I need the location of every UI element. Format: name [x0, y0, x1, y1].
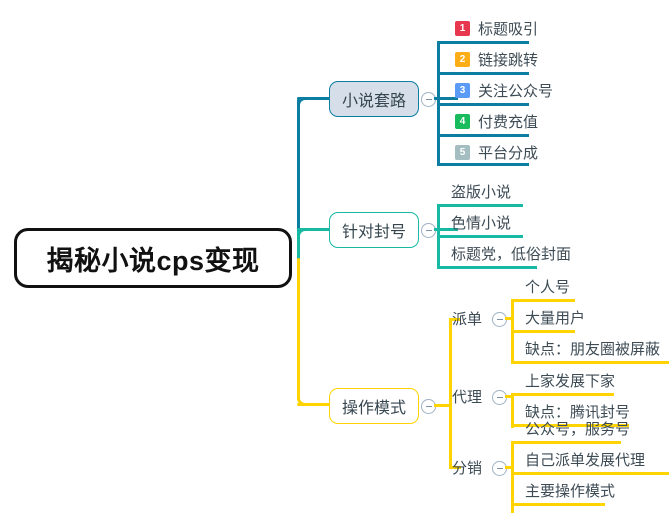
- leaf-guanzhugongzhonghao[interactable]: 3 关注公众号: [449, 75, 553, 106]
- minus-icon: [426, 406, 432, 408]
- leaf-label: 缺点：朋友圈被屏蔽: [517, 338, 660, 359]
- leaf-label: 付费充值: [470, 111, 538, 132]
- trunk-branch-1-corner: [297, 97, 311, 111]
- minus-icon: [426, 99, 432, 101]
- minus-icon: [426, 230, 432, 232]
- leaf-gerenhao[interactable]: 个人号: [517, 271, 570, 302]
- trunk-branch-2-corner: [297, 228, 311, 242]
- leaf-label: 关注公众号: [470, 80, 553, 101]
- subgroup-node-fenxiao[interactable]: 分销: [452, 452, 482, 482]
- leaf-shangjiafazhanxiajia[interactable]: 上家发展下家: [517, 365, 615, 396]
- leaf-gongzhonghao-fuwuhao[interactable]: 公众号，服务号: [517, 413, 630, 444]
- leaf-daobanxiaoshuo[interactable]: 盗版小说: [443, 176, 511, 207]
- mindmap-canvas: 揭秘小说cps变现 小说套路 1 标题吸引 2 链接跳转 3 关注公众号 4 付…: [0, 0, 671, 527]
- leaf-badge: 1: [455, 21, 470, 36]
- branch-node-label: 针对封号: [342, 218, 406, 242]
- leaf-label: 主要操作模式: [517, 480, 615, 501]
- branch-node-label: 操作模式: [342, 394, 406, 418]
- leaf-label: 链接跳转: [470, 49, 538, 70]
- branch-node-xiaoshuotaolu[interactable]: 小说套路: [329, 81, 419, 117]
- leaf-biaotidang[interactable]: 标题党，低俗封面: [443, 238, 571, 269]
- leaf-zijipaidanfazhandaili[interactable]: 自己派单发展代理: [517, 444, 645, 475]
- leaf-seqingxiaoshuo[interactable]: 色情小说: [443, 207, 511, 238]
- leaf-badge: 3: [455, 83, 470, 98]
- branch-1-spine: [437, 41, 440, 163]
- subgroup-label: 派单: [452, 308, 482, 329]
- trunk-branch-3-corner: [297, 392, 311, 406]
- leaf-badge: 5: [455, 145, 470, 160]
- leaf-label: 个人号: [517, 276, 570, 297]
- subgroup-node-daili[interactable]: 代理: [452, 381, 482, 411]
- branch-node-caozuomoshi[interactable]: 操作模式: [329, 388, 419, 424]
- leaf-label: 盗版小说: [443, 181, 511, 202]
- root-node[interactable]: 揭秘小说cps变现: [14, 228, 292, 288]
- branch-node-zhenduifenghao[interactable]: 针对封号: [329, 212, 419, 248]
- leaf-badge: 2: [455, 52, 470, 67]
- leaf-label: 标题吸引: [470, 18, 538, 39]
- leaf-biaotixiyin[interactable]: 1 标题吸引: [449, 13, 538, 44]
- leaf-daliangyonghu[interactable]: 大量用户: [517, 302, 585, 333]
- branch-node-label: 小说套路: [342, 87, 406, 111]
- leaf-underline: [437, 266, 537, 269]
- minus-icon: [497, 319, 503, 321]
- leaf-label: 公众号，服务号: [517, 418, 630, 439]
- leaf-badge: 4: [455, 114, 470, 129]
- leaf-label: 色情小说: [443, 212, 511, 233]
- leaf-label: 上家发展下家: [517, 370, 615, 391]
- daili-spine: [511, 393, 514, 428]
- leaf-zhuyaocaozuomoshi[interactable]: 主要操作模式: [517, 475, 615, 506]
- subgroup-node-paidan[interactable]: 派单: [452, 303, 482, 333]
- leaf-quedian-pengyouquan[interactable]: 缺点：朋友圈被屏蔽: [517, 333, 660, 364]
- leaf-label: 平台分成: [470, 142, 538, 163]
- subgroup-label: 代理: [452, 386, 482, 407]
- leaf-fufeichongzhi[interactable]: 4 付费充值: [449, 106, 538, 137]
- minus-icon: [497, 397, 503, 399]
- leaf-underline: [511, 503, 605, 506]
- leaf-underline: [511, 361, 669, 364]
- leaf-label: 自己派单发展代理: [517, 449, 645, 470]
- leaf-label: 标题党，低俗封面: [443, 243, 571, 264]
- subgroup-label: 分销: [452, 457, 482, 478]
- leaf-label: 大量用户: [517, 307, 585, 328]
- leaf-lianjietiaozhuan[interactable]: 2 链接跳转: [449, 44, 538, 75]
- trunk-branch-3: [297, 258, 300, 400]
- leaf-underline: [437, 163, 529, 166]
- root-node-label: 揭秘小说cps变现: [46, 239, 259, 278]
- minus-icon: [497, 468, 503, 470]
